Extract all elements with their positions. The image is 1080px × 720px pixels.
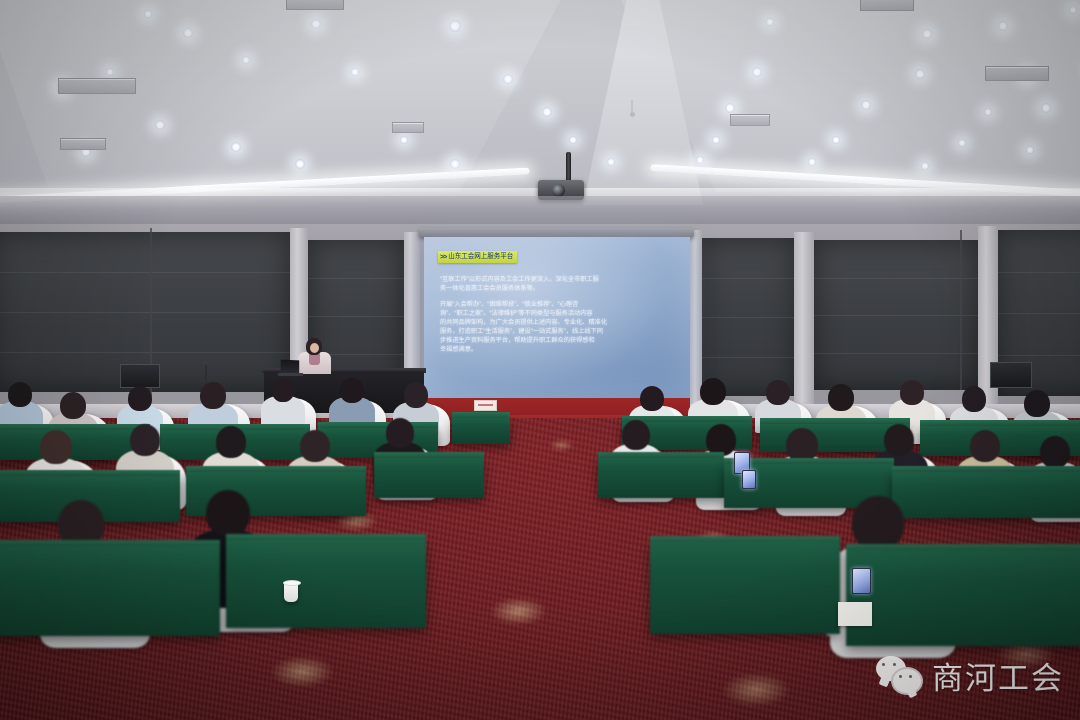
smartphone <box>852 568 871 594</box>
downlight-icon <box>725 103 735 113</box>
skirted-table <box>650 542 840 634</box>
wall-cable <box>960 230 962 390</box>
wechat-icon <box>876 656 922 696</box>
side-monitor-right <box>990 362 1032 388</box>
downlight-icon <box>915 69 925 79</box>
downlight-icon <box>569 136 577 144</box>
attendee-head <box>300 430 330 462</box>
attendee-head <box>766 380 790 405</box>
downlight-icon <box>696 156 704 164</box>
downlight-icon <box>231 142 241 152</box>
attendee-head <box>128 386 152 411</box>
air-vent-icon <box>985 66 1049 81</box>
skirted-table <box>892 472 1080 518</box>
presenter-face <box>310 343 319 353</box>
air-vent-icon <box>286 0 344 10</box>
slide-text-line: 幸福感满意。 <box>440 345 674 354</box>
downlight-icon <box>607 158 615 166</box>
downlight-icon <box>311 19 321 29</box>
ceiling <box>0 0 1080 232</box>
attendee-head <box>216 426 246 458</box>
attendee-head <box>884 424 914 456</box>
downlight-icon <box>984 108 992 116</box>
attendee-head <box>700 378 726 405</box>
downlight-icon <box>861 100 871 110</box>
projection-screen: >> 山东工会网上服务平台 “互联工作”以形式内容及工会工作更深入，深化全市职工… <box>424 237 690 401</box>
downlight-icon <box>242 56 250 64</box>
watermark: 商河工会 <box>876 653 1064 698</box>
downlight-icon <box>503 74 513 84</box>
attendee-head <box>386 418 414 448</box>
smartphone <box>742 470 756 489</box>
attendee-head <box>640 386 664 411</box>
downlight-icon <box>144 10 152 18</box>
skirted-table <box>374 458 484 498</box>
handout-paper <box>838 602 872 626</box>
wall-pilaster <box>690 230 702 408</box>
attendee-head <box>60 392 86 419</box>
downlight-icon <box>449 20 461 32</box>
downlight-icon <box>1041 103 1051 113</box>
presenter-laptop-base <box>278 373 303 376</box>
attendee-head <box>1040 436 1070 468</box>
downlight-icon <box>752 67 762 77</box>
attendee-head <box>8 382 32 407</box>
downlight-icon <box>832 136 840 144</box>
skirted-table <box>226 540 426 628</box>
downlight-icon <box>106 68 114 76</box>
slide-text-line: 的共同品牌架构，为广大会员提供上述内容、专业化、精准化 <box>440 318 674 327</box>
downlight-icon <box>1069 6 1077 14</box>
conference-hall-photo: >> 山东工会网上服务平台 “互联工作”以形式内容及工会工作更深入，深化全市职工… <box>0 0 1080 720</box>
downlight-icon <box>400 136 408 144</box>
downlight-icon <box>351 68 359 76</box>
downlight-icon <box>450 159 460 169</box>
attendee-head <box>900 380 924 405</box>
slide-text-line: 务一体化普惠工会会员服务体系等。 <box>440 284 674 293</box>
downlight-icon <box>183 28 193 38</box>
attendee-head <box>200 382 226 409</box>
attendee-head <box>828 384 854 411</box>
paper-cup <box>284 582 298 602</box>
attendee-head <box>40 430 72 464</box>
chevron-right-icon: >> <box>440 254 446 261</box>
downlight-icon <box>998 21 1008 31</box>
slide-text-line: 询”、“职工之家”、“法律维护”等不同类型与服务活动内容 <box>440 309 674 318</box>
attendee-head <box>404 382 428 408</box>
wall-panel <box>700 238 796 396</box>
slide-text-line: 开展“入会帮办”、“困难帮扶”、“就业推荐”、“心理咨 <box>440 300 674 309</box>
downlight-icon <box>922 29 932 39</box>
screen-roller-case <box>419 228 694 237</box>
skirted-table <box>452 418 510 444</box>
wall-panel <box>812 240 980 390</box>
downlight-icon <box>958 139 966 147</box>
microphone-stand <box>205 363 207 385</box>
microphone-icon <box>202 359 208 365</box>
air-vent-icon <box>392 122 424 133</box>
skirted-table <box>846 550 1080 646</box>
downlight-icon <box>766 18 774 26</box>
downlight-icon <box>295 159 305 169</box>
slide-text-line: 步推进生产资料服务平台，帮助提升职工群众的获得感和 <box>440 336 674 345</box>
air-vent-icon <box>730 114 770 126</box>
downlight-icon <box>921 162 929 170</box>
downlight-icon <box>1026 146 1034 154</box>
air-vent-icon <box>60 138 106 150</box>
slide-body-text: “互联工作”以形式内容及工会工作更深入，深化全市职工服务一体化普惠工会会员服务体… <box>440 275 674 354</box>
air-vent-icon <box>58 78 136 94</box>
attendee-head <box>970 430 1000 462</box>
skirted-table <box>598 458 724 498</box>
attendee-head <box>206 490 250 536</box>
skirted-table <box>0 546 220 636</box>
attendee-head <box>130 424 160 456</box>
attendee-head <box>852 496 904 550</box>
side-monitor-left <box>120 364 160 388</box>
attendee-head <box>962 386 986 412</box>
attendee-head <box>786 428 818 462</box>
downlight-icon <box>155 120 165 130</box>
attendee-head <box>340 378 364 403</box>
attendee-head <box>622 420 650 450</box>
slide-banner-title: 山东工会网上服务平台 <box>448 254 513 261</box>
downlight-icon <box>808 158 816 166</box>
name-card <box>474 400 497 411</box>
watermark-text: 商河工会 <box>932 653 1064 698</box>
downlight-icon <box>712 136 720 144</box>
slide-text-line: 服务，打造职工“生活服务”，建设“一站式服务”，线上线下同 <box>440 327 674 336</box>
wall-pilaster <box>794 232 814 406</box>
downlight-icon <box>542 107 552 117</box>
attendee-head <box>1024 390 1050 417</box>
attendee-head <box>272 378 294 402</box>
slide-title-banner: >> 山东工会网上服务平台 <box>438 251 517 263</box>
air-vent-icon <box>860 0 914 11</box>
slide-text-line: “互联工作”以形式内容及工会工作更深入，深化全市职工服 <box>440 275 674 284</box>
sprinkler-icon <box>630 112 635 117</box>
